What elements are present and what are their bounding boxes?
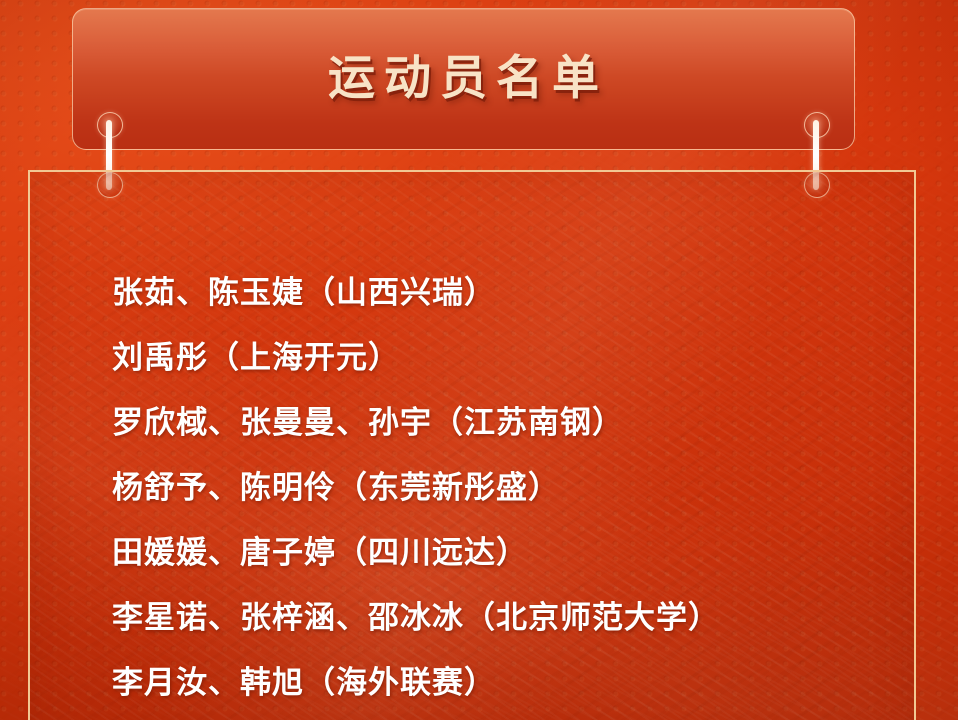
roster-line: 张茹、陈玉婕（山西兴瑞） <box>112 260 894 325</box>
page-title: 运动员名单 <box>73 49 854 107</box>
roster-list: 张茹、陈玉婕（山西兴瑞） 刘禹彤（上海开元） 罗欣棫、张曼曼、孙宇（江苏南钢） … <box>112 260 894 715</box>
roster-line: 罗欣棫、张曼曼、孙宇（江苏南钢） <box>112 390 894 455</box>
roster-line: 田媛媛、唐子婷（四川远达） <box>112 520 894 585</box>
title-banner: 运动员名单 <box>72 8 855 150</box>
roster-line: 杨舒予、陈明伶（东莞新彤盛） <box>112 455 894 520</box>
roster-line: 刘禹彤（上海开元） <box>112 325 894 390</box>
poster-canvas: 运动员名单 张茹、陈玉婕（山西兴瑞） 刘禹彤（上海开元） 罗欣棫、张曼曼、孙宇（… <box>0 0 958 720</box>
roster-panel: 张茹、陈玉婕（山西兴瑞） 刘禹彤（上海开元） 罗欣棫、张曼曼、孙宇（江苏南钢） … <box>28 170 916 720</box>
roster-line: 李月汝、韩旭（海外联赛） <box>112 650 894 715</box>
roster-line: 李星诺、张梓涵、邵冰冰（北京师范大学） <box>112 585 894 650</box>
